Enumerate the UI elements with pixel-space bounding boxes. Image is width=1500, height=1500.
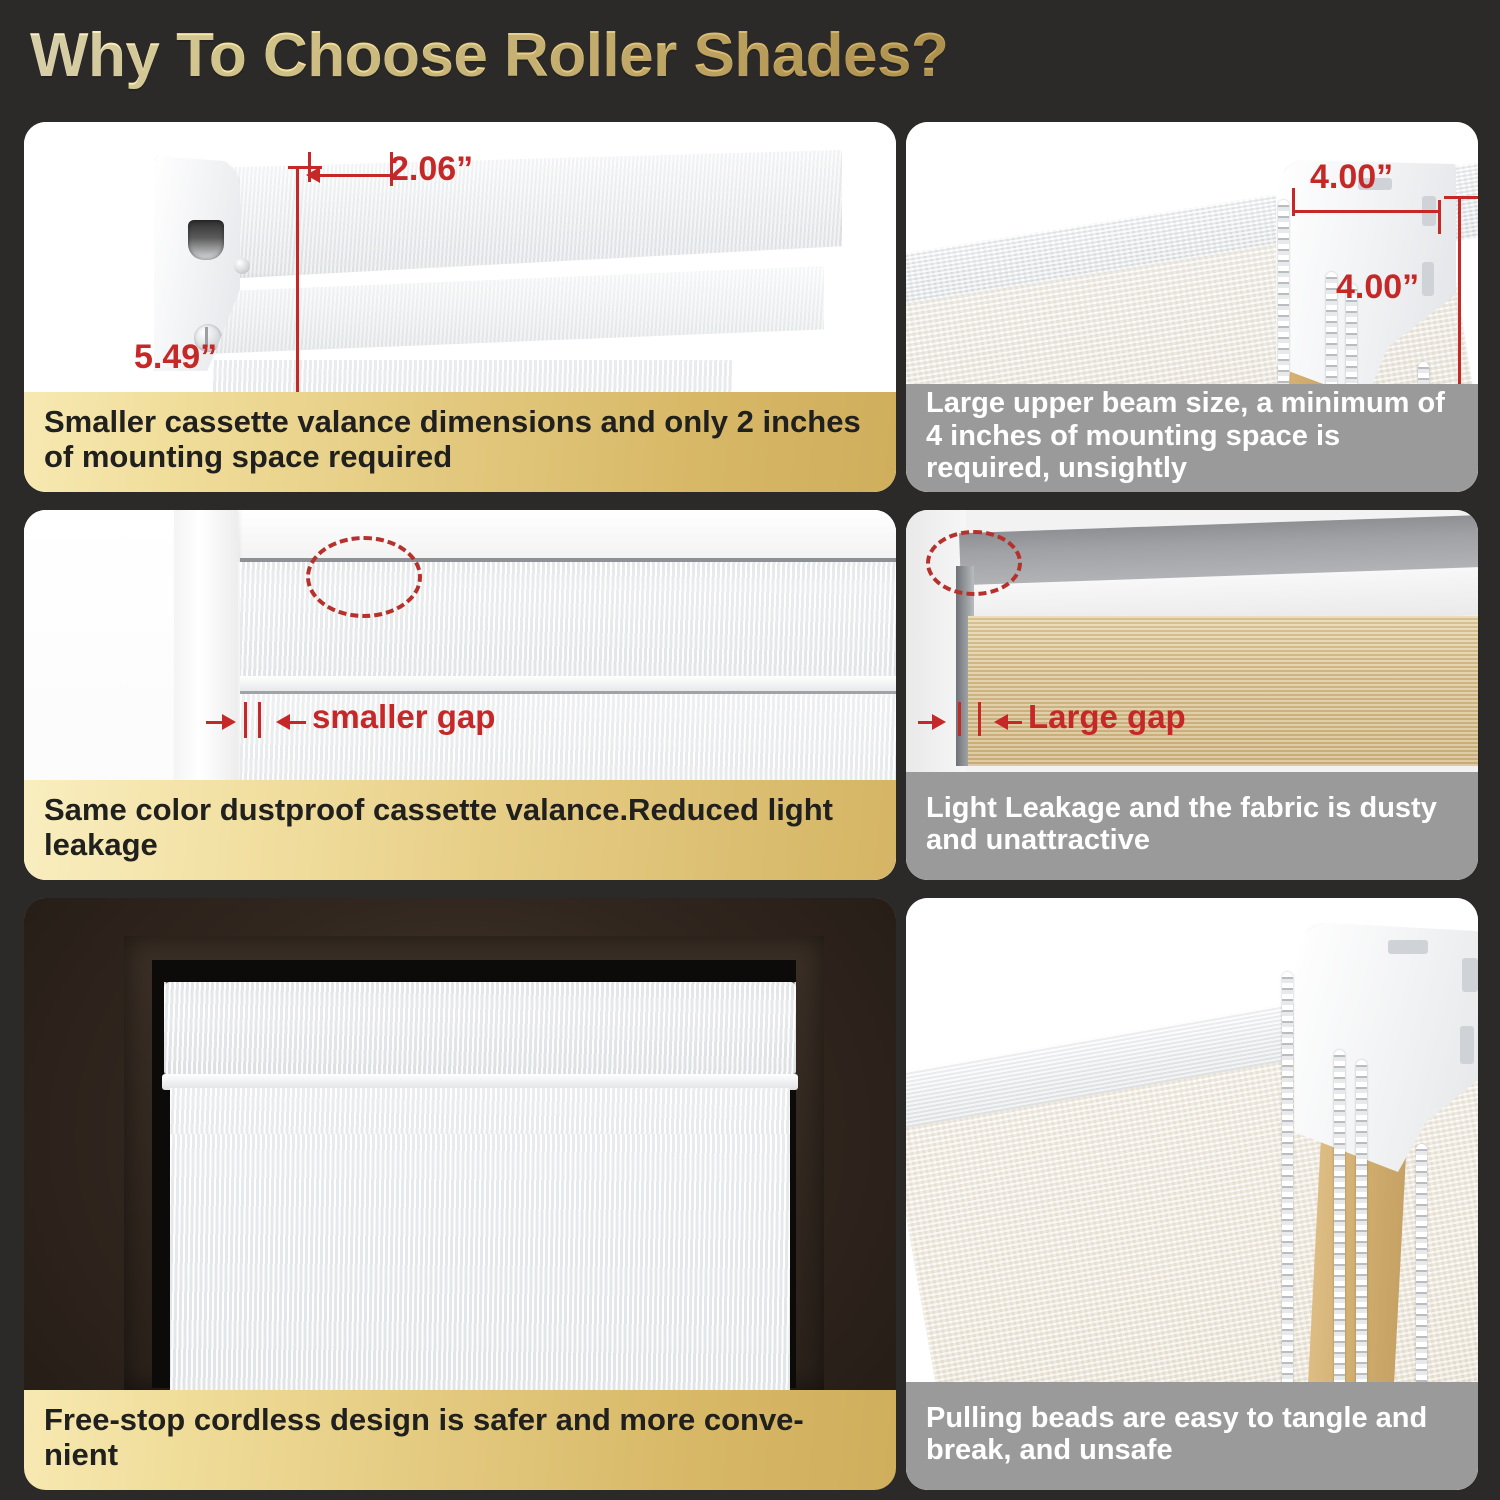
panel-dustproof-cassette-valance: smaller gap Same color dustproof cassett…: [24, 510, 896, 880]
page-header: Why To Choose Roller Shades?: [0, 0, 1500, 110]
gap-marker-left: [244, 702, 247, 738]
panel-free-stop-cordless: Free-stop cordless design is safer and m…: [24, 898, 896, 1490]
panel-caption-free-stop-cordless: Free-stop cordless design is safer and m…: [24, 1390, 896, 1490]
beam-width-extension-left: [1292, 188, 1295, 216]
cassette-valance-illustration: [142, 150, 842, 370]
panel-caption-pulling-beads: Pulling beads are easy to tangle and bre…: [906, 1382, 1478, 1490]
gap-callout-label: smaller gap: [312, 698, 495, 736]
panel-caption-light-leakage: Light Leakage and the fabric is dusty an…: [906, 772, 1478, 880]
panel-caption-dustproof-valance: Same color dustproof cassette valance.Re…: [24, 780, 896, 880]
height-dimension-label: 5.49”: [134, 338, 217, 377]
panel-caption-large-upper-beam: Large upper beam size, a minimum of 4 in…: [906, 384, 1478, 492]
cassette-valance-head: [164, 982, 796, 1074]
gap-callout-label: Large gap: [1028, 698, 1186, 736]
comparison-grid: 2.06” 5.49” Smaller cassette valance dim…: [0, 112, 1500, 1500]
panel-cassette-valance-dimensions: 2.06” 5.49” Smaller cassette valance dim…: [24, 122, 896, 492]
panel-caption-cassette-valance: Smaller cassette valance dimensions and …: [24, 392, 896, 492]
beam-height-dimension-label: 4.00”: [1336, 268, 1419, 307]
gap-marker-right: [978, 702, 981, 736]
beam-width-dimension-label: 4.00”: [1310, 158, 1393, 197]
width-dimension-label: 2.06”: [390, 150, 473, 189]
page-title: Why To Choose Roller Shades?: [30, 20, 948, 91]
panel-large-upper-beam: 4.00” 4.00” Large upper beam size, a min…: [906, 122, 1478, 492]
beam-width-dimension-line: [1292, 210, 1440, 213]
beam-height-dimension-line: [1458, 196, 1461, 386]
gap-highlight-ellipse: [306, 536, 422, 618]
beam-width-extension-right: [1438, 200, 1441, 234]
gap-marker-left: [958, 702, 961, 736]
height-extension-top: [288, 166, 322, 169]
valance-small-screw-icon: [234, 258, 250, 274]
gap-marker-right: [258, 702, 261, 738]
panel-pulling-beads-tangle: Pulling beads are easy to tangle and bre…: [906, 898, 1478, 1490]
beam-height-extension-top: [1444, 196, 1478, 199]
panel-light-leakage: Large gap Light Leakage and the fabric i…: [906, 510, 1478, 880]
valance-bead-port-icon: [188, 220, 224, 260]
gap-highlight-ellipse: [926, 530, 1022, 596]
width-dimension-line: [308, 174, 392, 177]
